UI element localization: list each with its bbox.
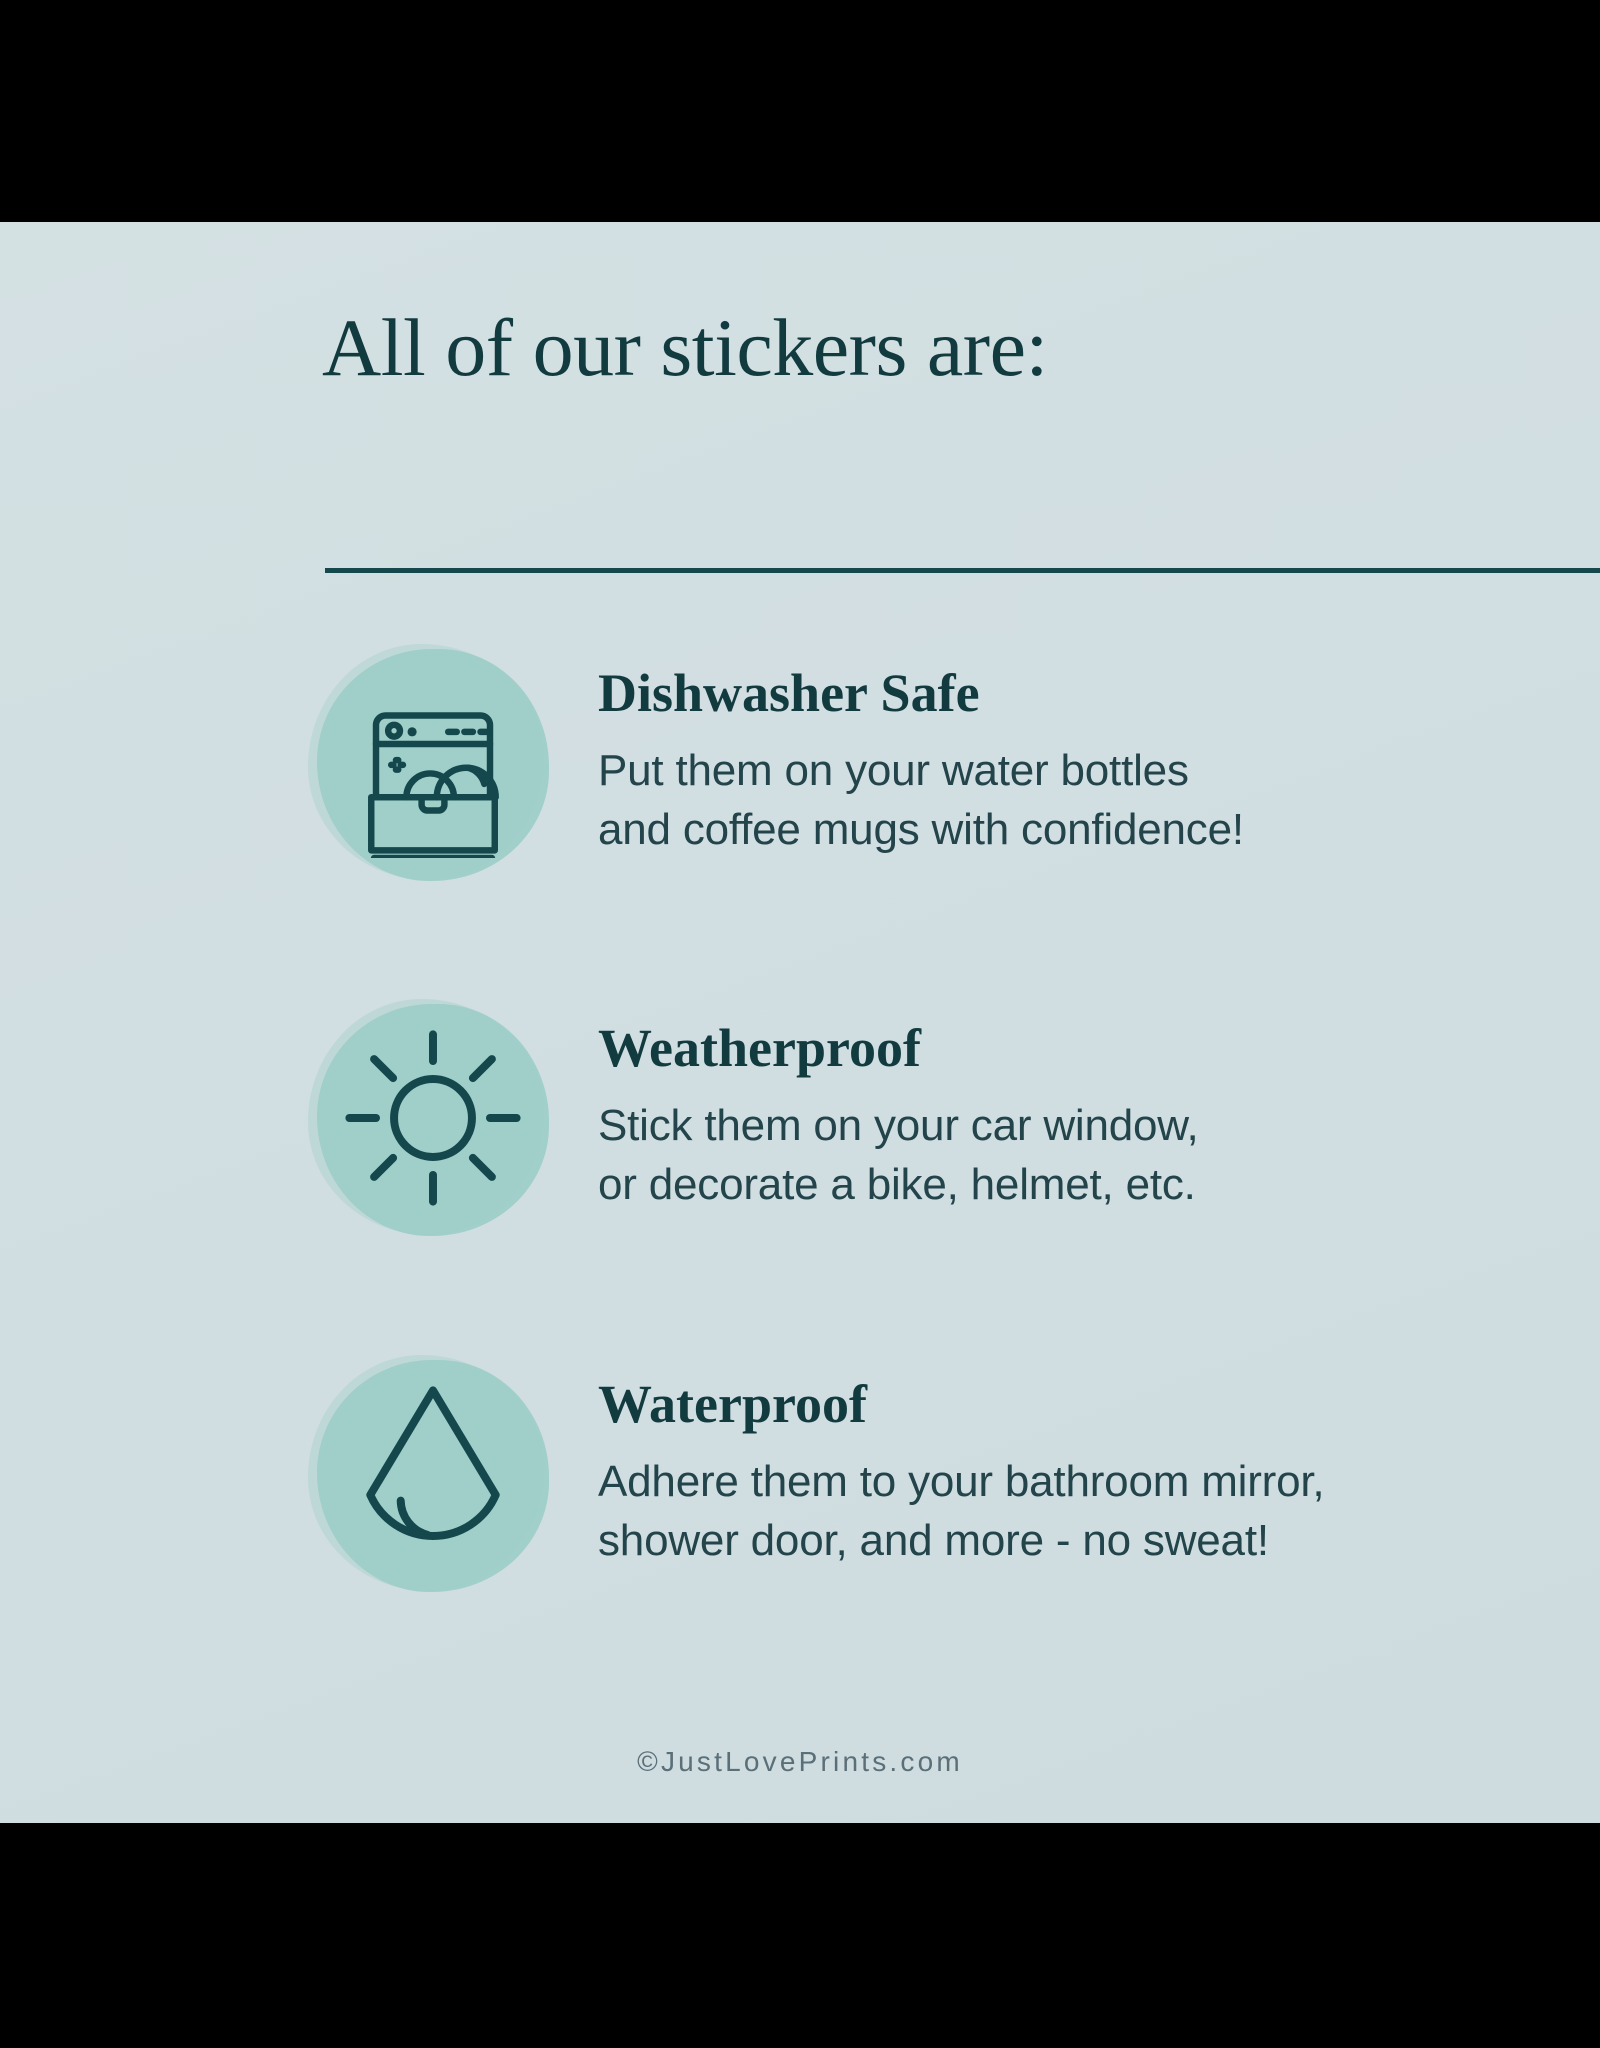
feature-heading: Weatherproof xyxy=(598,995,1558,1075)
feature-body: Stick them on your car window, or decora… xyxy=(598,1075,1558,1214)
feature-body-line: or decorate a bike, helmet, etc. xyxy=(598,1156,1558,1215)
dishwasher-icon xyxy=(338,668,528,858)
feature-body: Adhere them to your bathroom mirror, sho… xyxy=(598,1431,1558,1570)
letterbox-bar-top xyxy=(0,0,1600,222)
feature-heading: Dishwasher Safe xyxy=(598,640,1558,720)
feature-body-line: Adhere them to your bathroom mirror, xyxy=(598,1453,1558,1512)
page-title: All of our stickers are: xyxy=(322,305,1048,391)
feature-body-line: shower door, and more - no sweat! xyxy=(598,1512,1558,1571)
water-droplet-icon xyxy=(338,1379,528,1569)
screenshot-frame: All of our stickers are: xyxy=(0,0,1600,2048)
info-card: All of our stickers are: xyxy=(0,222,1600,1823)
feature-body: Put them on your water bottles and coffe… xyxy=(598,720,1558,859)
sun-icon-badge xyxy=(308,995,558,1245)
feature-text-dishwasher: Dishwasher Safe Put them on your water b… xyxy=(598,640,1558,859)
dishwasher-icon-badge xyxy=(308,640,558,890)
sun-icon xyxy=(338,1023,528,1213)
feature-heading: Waterproof xyxy=(598,1351,1558,1431)
feature-body-line: and coffee mugs with confidence! xyxy=(598,801,1558,860)
feature-text-weatherproof: Weatherproof Stick them on your car wind… xyxy=(598,995,1558,1214)
feature-body-line: Stick them on your car window, xyxy=(598,1097,1558,1156)
water-droplet-icon-badge xyxy=(308,1351,558,1601)
title-divider xyxy=(325,568,1600,573)
feature-body-line: Put them on your water bottles xyxy=(598,742,1558,801)
feature-text-waterproof: Waterproof Adhere them to your bathroom … xyxy=(598,1351,1558,1570)
copyright-credit: ©JustLovePrints.com xyxy=(0,1746,1600,1778)
letterbox-bar-bottom xyxy=(0,1823,1600,2048)
